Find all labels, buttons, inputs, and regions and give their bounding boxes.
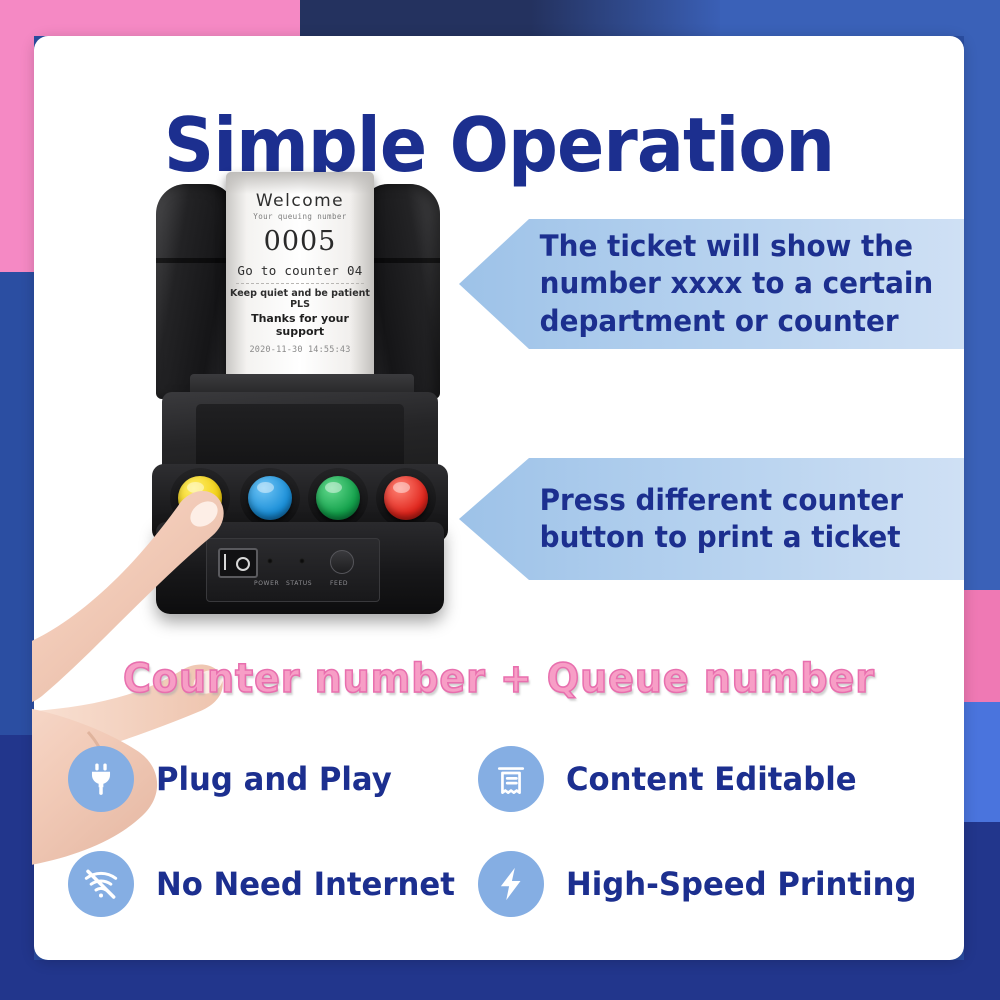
plug-icon [68, 746, 134, 812]
feature-list: Plug and Play Content Editable [68, 726, 948, 936]
frame-band-top-blue [720, 0, 1000, 36]
yellow-counter-button[interactable] [178, 476, 222, 520]
feature-label: High-Speed Printing [566, 865, 916, 903]
printed-ticket: Welcome Your queuing number 0005 Go to c… [226, 172, 374, 388]
power-switch[interactable] [218, 548, 258, 578]
status-led [299, 558, 305, 564]
red-counter-button[interactable] [384, 476, 428, 520]
feature-label: Content Editable [566, 760, 857, 798]
callout-ticket-text: The ticket will show the number xxxx to … [459, 228, 944, 339]
content-card: Simple Operation Welcome Your queuing nu… [34, 36, 964, 960]
frame-band-right-blue [964, 0, 1000, 590]
feed-button[interactable] [330, 550, 354, 574]
frame-band-bottom-navy [0, 960, 1000, 1000]
callout-button-info: Press different counter button to print … [459, 458, 964, 580]
printer-shoulder-left [156, 184, 234, 399]
feature-plug-and-play: Plug and Play [68, 746, 478, 812]
ticket-subtitle: Your queuing number [226, 212, 374, 221]
frame-band-top-navy [300, 0, 720, 36]
feed-label: FEED [330, 580, 348, 587]
feature-high-speed-printing: High-Speed Printing [478, 851, 948, 917]
ticket-timestamp: 2020-11-30 14:55:43 [226, 345, 374, 355]
feature-label: No Need Internet [156, 865, 455, 903]
green-counter-button[interactable] [316, 476, 360, 520]
frame-band-left-pink [0, 0, 34, 272]
frame-band-top-pink [0, 0, 300, 36]
callout-ticket-info: The ticket will show the number xxxx to … [459, 219, 964, 349]
infographic-canvas: Simple Operation Welcome Your queuing nu… [0, 0, 1000, 1000]
tagline: Counter number + Queue number [57, 656, 941, 702]
frame-band-right-blue-2 [964, 702, 1000, 822]
feature-content-editable: Content Editable [478, 746, 948, 812]
ticket-text-block: Welcome Your queuing number 0005 Go to c… [226, 192, 374, 355]
feature-no-internet: No Need Internet [68, 851, 478, 917]
power-led [267, 558, 273, 564]
ticket-welcome: Welcome [226, 192, 374, 211]
frame-band-right-pink [964, 590, 1000, 702]
ticket-quiet-note: Keep quiet and be patient PLS [226, 288, 374, 310]
bolt-icon [478, 851, 544, 917]
ticket-thanks: Thanks for your support [226, 312, 374, 338]
callout-button-text: Press different counter button to print … [459, 482, 944, 556]
status-label: STATUS [286, 580, 312, 587]
ticket-counter: Go to counter 04 [226, 263, 374, 278]
ticket-divider [236, 283, 364, 284]
printer-seam-left [156, 258, 234, 263]
feature-label: Plug and Play [156, 760, 392, 798]
power-label: POWER [254, 580, 279, 587]
wifi-off-icon [68, 851, 134, 917]
blue-counter-button[interactable] [248, 476, 292, 520]
ticket-number: 0005 [226, 228, 374, 255]
thermal-printer-illustration: Welcome Your queuing number 0005 Go to c… [134, 146, 464, 626]
receipt-icon [478, 746, 544, 812]
